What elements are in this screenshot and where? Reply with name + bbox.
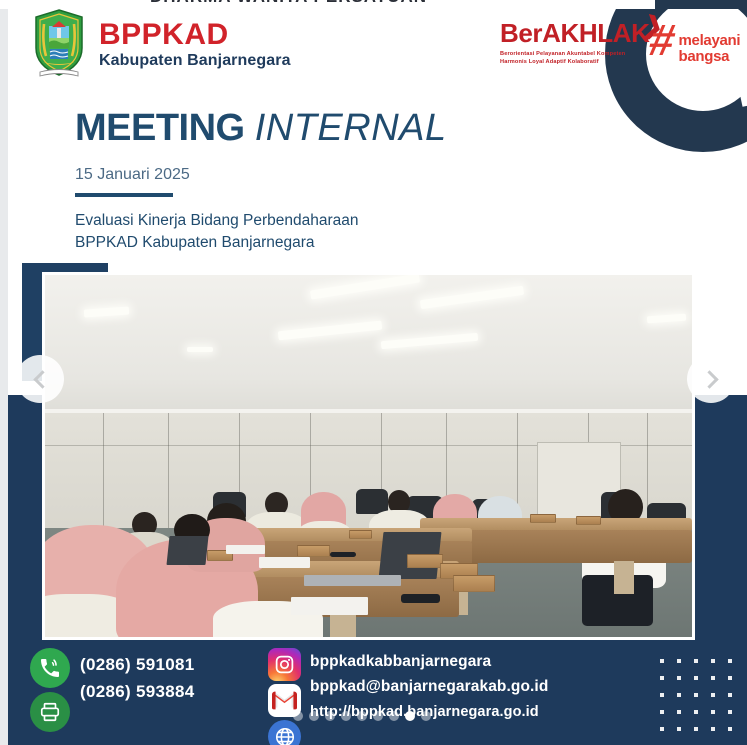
- carousel-prev-button[interactable]: [16, 355, 64, 403]
- berakhlak-logo: BerAKHLAK ❯ Berorientasi Pelayanan Akunt…: [500, 20, 650, 67]
- photo-ceiling: [45, 275, 692, 423]
- carousel-dot[interactable]: [373, 711, 383, 721]
- bppkad-logo: BPPKAD Kabupaten Banjarnegara: [28, 8, 291, 78]
- footer-social-text: bppkadkabbanjarnegara bppkad@banjarnegar…: [310, 648, 548, 745]
- carousel-dot[interactable]: [325, 711, 335, 721]
- carousel-dot[interactable]: [341, 711, 351, 721]
- carousel-dots[interactable]: [293, 711, 431, 721]
- meeting-description-line2: BPPKAD Kabupaten Banjarnegara: [75, 232, 447, 253]
- title-underline-rule: [75, 193, 173, 197]
- carousel-dot-active[interactable]: [405, 711, 415, 721]
- globe-icon[interactable]: [268, 720, 301, 745]
- phone-call-icon[interactable]: [30, 648, 70, 688]
- carousel-dot[interactable]: [309, 711, 319, 721]
- footer-phone-1: (0286) 591081: [80, 655, 195, 675]
- berakhlak-desc-line1: Berorientasi Pelayanan Akuntabel Kompete…: [500, 50, 650, 58]
- footer-social-group: bppkadkabbanjarnegara bppkad@banjarnegar…: [268, 648, 548, 745]
- carousel-dot[interactable]: [389, 711, 399, 721]
- carousel-dot[interactable]: [421, 711, 431, 721]
- bangga-line3: bangsa: [678, 49, 740, 64]
- footer-social-icons: [268, 648, 301, 745]
- page-title-italic: INTERNAL: [255, 107, 447, 149]
- footer-email: bppkad@banjarnegarakab.go.id: [310, 676, 548, 697]
- carousel-dot[interactable]: [293, 711, 303, 721]
- clipped-top-strip-dark-block: [655, 0, 747, 9]
- clipped-top-strip-text: DHARMA WANITA PERSATUAN: [150, 0, 427, 7]
- berakhlak-description: Berorientasi Pelayanan Akuntabel Kompete…: [500, 50, 650, 67]
- bppkad-logo-text: BPPKAD Kabupaten Banjarnegara: [99, 18, 291, 69]
- chevron-right-icon: [700, 370, 718, 388]
- meeting-description-line1: Evaluasi Kinerja Bidang Perbendaharaan: [75, 210, 447, 231]
- instagram-icon[interactable]: [268, 648, 301, 681]
- meeting-date: 15 Januari 2025: [75, 166, 447, 184]
- berakhlak-desc-line2: Harmonis Loyal Adaptif Kolaboratif: [500, 58, 650, 66]
- footer-instagram-handle: bppkadkabbanjarnegara: [310, 651, 548, 672]
- footer-phone-icons: [30, 648, 70, 732]
- meeting-description: Evaluasi Kinerja Bidang Perbendaharaan B…: [75, 210, 447, 253]
- clipped-top-strip: DHARMA WANITA PERSATUAN: [0, 0, 747, 9]
- hashtag-icon: #: [646, 24, 678, 58]
- footer-dot-grid: [653, 653, 739, 737]
- title-block: MEETING INTERNAL 15 Januari 2025 Evaluas…: [75, 108, 447, 253]
- bangga-lines: bangga melayani bangsa: [678, 18, 740, 64]
- bangga-line1: bangga: [678, 18, 740, 33]
- bppkad-title: BPPKAD: [99, 20, 291, 50]
- meeting-photo: [45, 275, 692, 637]
- berakhlak-wordmark: BerAKHLAK ❯: [500, 20, 650, 46]
- carousel-next-button[interactable]: [687, 355, 735, 403]
- footer-contact: (0286) 591081 (0286) 593884: [30, 648, 195, 732]
- fax-printer-icon[interactable]: [30, 692, 70, 732]
- carousel-dot[interactable]: [357, 711, 367, 721]
- banjarnegara-regency-crest-icon: [28, 8, 90, 78]
- bangga-line2: melayani: [678, 33, 740, 48]
- bppkad-subtitle: Kabupaten Banjarnegara: [99, 53, 291, 69]
- page-title: MEETING INTERNAL: [75, 108, 447, 148]
- meeting-photo-frame: [42, 272, 695, 640]
- footer-phone-numbers: (0286) 591081 (0286) 593884: [80, 648, 195, 702]
- slide-canvas: DHARMA WANITA PERSATUAN BPPKAD Ka: [0, 0, 747, 745]
- bangga-melayani-bangsa-logo: # bangga melayani bangsa: [650, 18, 740, 64]
- left-edge-rail: [0, 9, 8, 745]
- chevron-left-icon: [33, 370, 51, 388]
- footer-phone-group: (0286) 591081 (0286) 593884: [30, 648, 195, 732]
- footer-phone-2: (0286) 593884: [80, 682, 195, 702]
- page-title-bold: MEETING: [75, 107, 245, 149]
